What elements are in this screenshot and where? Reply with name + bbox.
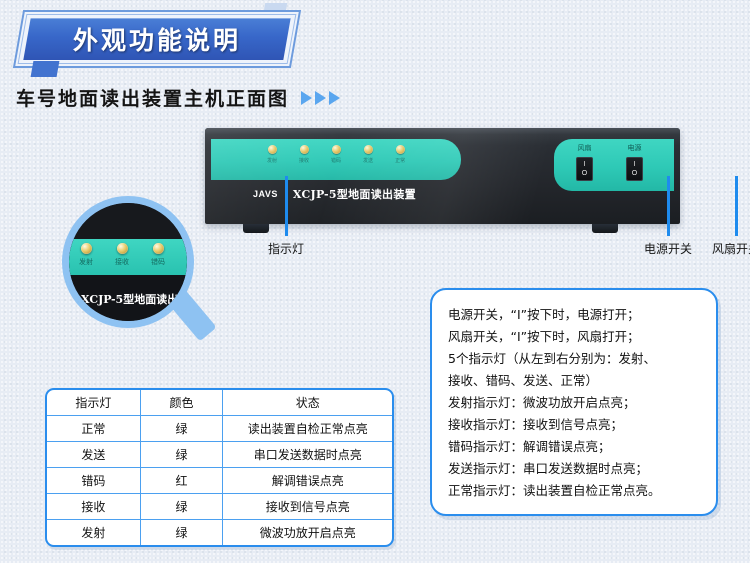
magnified-led-emit: 发射 [77,243,95,267]
table-cell: 发射 [47,520,140,546]
note-line: 接收指示灯：接收到信号点亮； [448,414,700,436]
table-cell: 红 [140,468,223,494]
table-header-cell: 指示灯 [47,390,140,416]
note-line: 接收、错码、发送、正常） [448,370,700,392]
table-cell: 绿 [140,494,223,520]
magnified-led-receive: 接收 [113,243,131,267]
table-cell: 发送 [47,442,140,468]
table-header-cell: 状态 [223,390,392,416]
table-row: 正常绿读出装置自检正常点亮 [47,416,392,442]
callout-label: 风扇开关 [712,240,750,257]
table-cell: 读出装置自检正常点亮 [223,416,392,442]
triangle-right-icon [315,91,326,105]
table-cell: 接收 [47,494,140,520]
triangle-right-icon [329,91,340,105]
table-cell: 绿 [140,520,223,546]
magnified-chassis-top [69,203,187,243]
callout-leader-line [285,176,288,236]
magnified-led-send: 发送 [185,243,187,267]
table-cell: 解调错误点亮 [223,468,392,494]
magnifier-lens-ring: 发射 接收 错码 发送 正常 XCJP-5型 [62,196,194,328]
section-subtitle: 车号地面读出装置主机正面图 [16,84,289,111]
table-cell: 错码 [47,468,140,494]
note-line: 风扇开关，“I”按下时，风扇打开； [448,326,700,348]
table-header-cell: 颜色 [140,390,223,416]
table-row: 发送绿串口发送数据时点亮 [47,442,392,468]
note-line: 发送指示灯：串口发送数据时点亮； [448,458,700,480]
table-cell: 串口发送数据时点亮 [223,442,392,468]
magnified-model-name: XCJP-5型地面读出 [81,291,178,307]
note-line: 发射指示灯：微波功放开启点亮； [448,392,700,414]
table-row: 发射绿微波功放开启点亮 [47,520,392,546]
note-line: 电源开关，“I”按下时，电源打开； [448,304,700,326]
callout-fan-switch: 风扇开关 [712,176,750,257]
section-subtitle-row: 车号地面读出装置主机正面图 [16,84,340,111]
table-row: 接收绿接收到信号点亮 [47,494,392,520]
triangle-right-icon [301,91,312,105]
magnifier-lens-content: 发射 接收 错码 发送 正常 XCJP-5型 [69,203,187,321]
device-foot-left [243,224,269,233]
table-cell: 微波功放开启点亮 [223,520,392,546]
arrow-group [301,91,340,105]
callout-leader-line [667,176,670,236]
callout-label: 指示灯 [268,240,304,257]
led-label: 发射 [79,257,93,267]
led-status-table: 指示灯颜色状态正常绿读出装置自检正常点亮发送绿串口发送数据时点亮错码红解调错误点… [45,388,394,547]
led-label: 接收 [115,257,129,267]
led-indicator-icon [117,243,128,254]
led-indicator-icon [81,243,92,254]
table-cell: 绿 [140,442,223,468]
note-line: 正常指示灯：读出装置自检正常点亮。 [448,480,700,502]
note-line: 5个指示灯（从左到右分别为：发射、 [448,348,700,370]
table-row: 错码红解调错误点亮 [47,468,392,494]
magnified-led-error: 错码 [149,243,167,267]
led-label: 错码 [151,257,165,267]
table: 指示灯颜色状态正常绿读出装置自检正常点亮发送绿串口发送数据时点亮错码红解调错误点… [47,390,392,545]
callout-leader-line [735,176,738,236]
device-foot-right [592,224,618,233]
callout-label: 电源开关 [644,240,692,257]
magnified-led-row: 发射 接收 错码 发送 正常 [77,243,187,267]
page-title-banner: 外观功能说明 [18,10,296,68]
table-cell: 绿 [140,416,223,442]
led-indicator-icon [153,243,164,254]
callout-indicator-lights: 指示灯 [268,176,304,257]
table-cell: 接收到信号点亮 [223,494,392,520]
callout-power-switch: 电源开关 [644,176,692,257]
page-title: 外观功能说明 [18,10,296,68]
magnifier-callout: 发射 接收 错码 发送 正常 XCJP-5型 [62,196,212,346]
table-cell: 正常 [47,416,140,442]
table-header-row: 指示灯颜色状态 [47,390,392,416]
note-line: 错码指示灯：解调错误点亮； [448,436,700,458]
operation-notes-panel: 电源开关，“I”按下时，电源打开；风扇开关，“I”按下时，风扇打开；5个指示灯（… [430,288,718,516]
